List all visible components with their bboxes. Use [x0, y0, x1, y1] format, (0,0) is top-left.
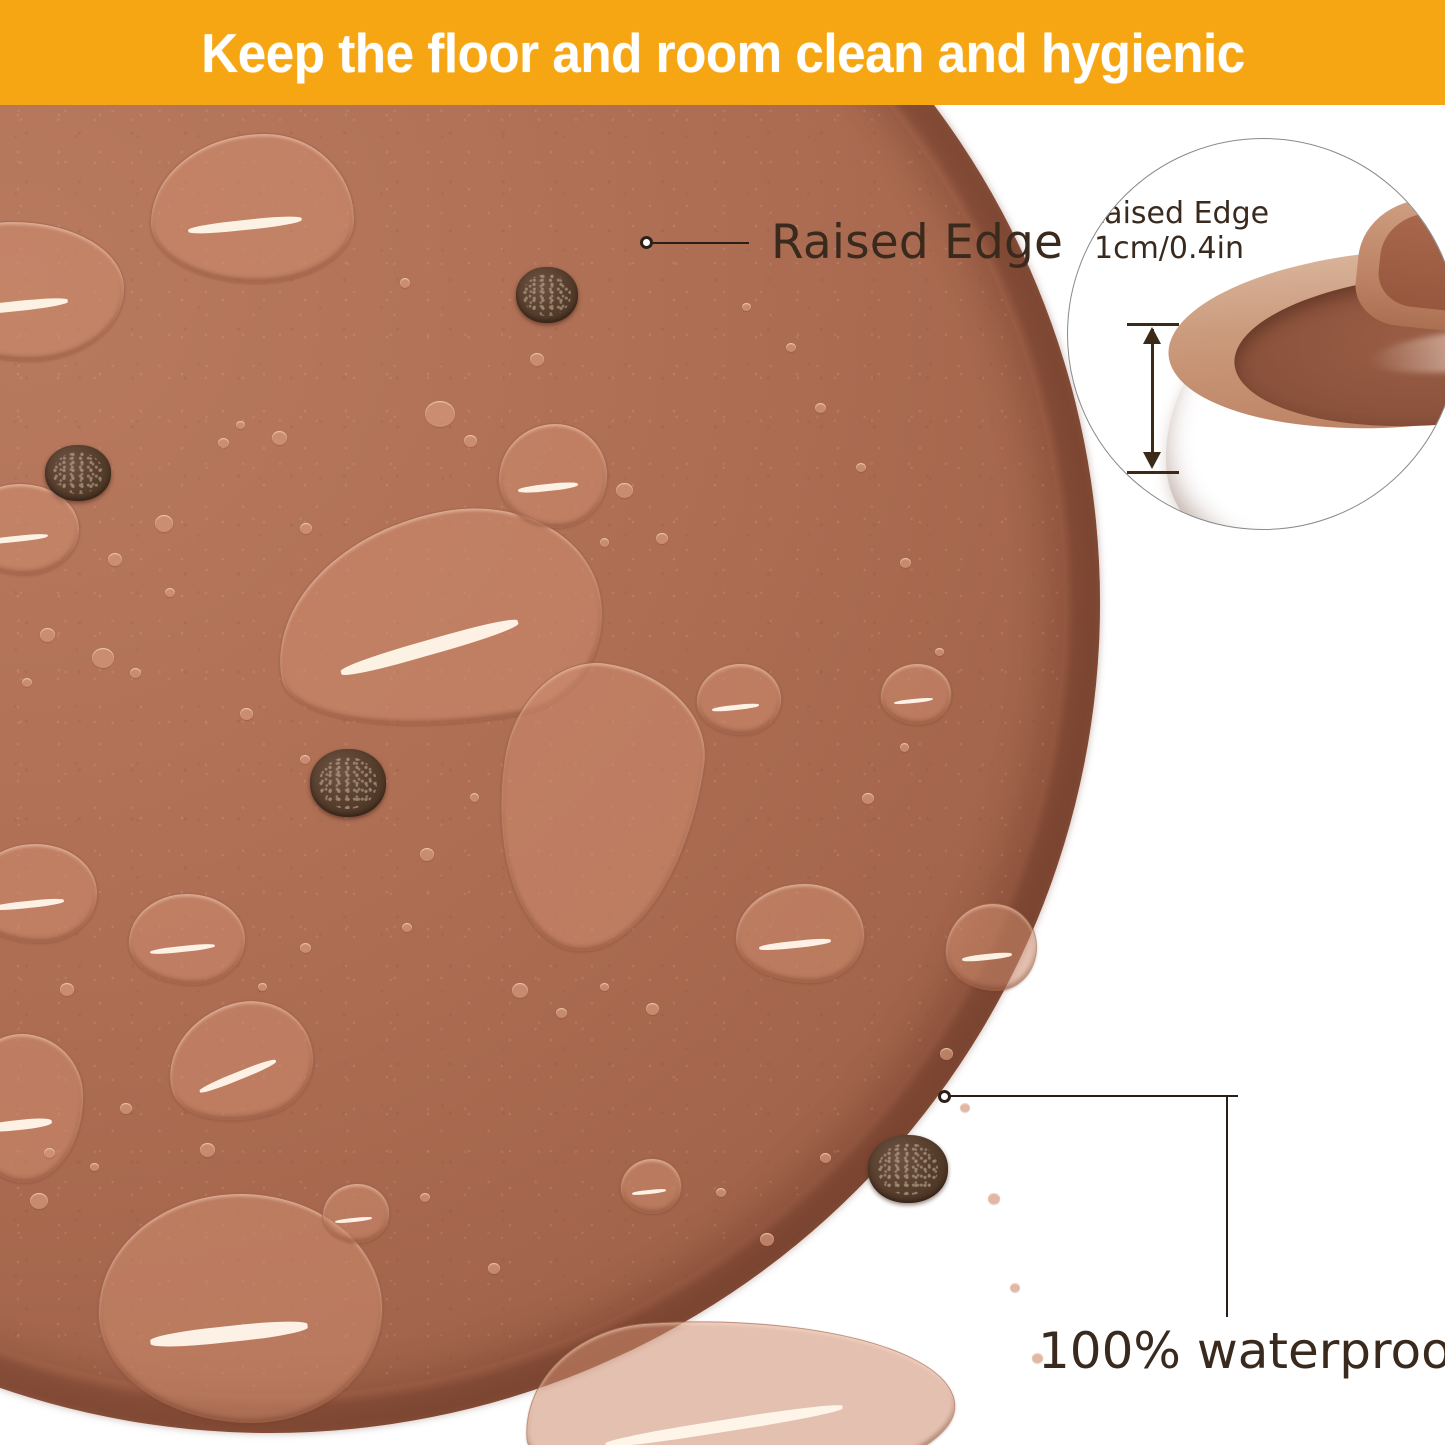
water-droplet — [988, 1193, 1000, 1204]
inset-measurement: 1cm/0.4in — [1084, 232, 1269, 267]
water-droplet — [400, 278, 410, 288]
water-droplet — [300, 523, 312, 534]
leader-line-horizontal — [950, 1095, 1238, 1097]
water-droplet — [240, 708, 253, 720]
water-droplet — [512, 983, 528, 998]
callout-waterproof-label: 100% waterproof — [1038, 1322, 1445, 1380]
water-droplet — [300, 943, 311, 953]
water-droplet — [92, 648, 114, 668]
water-puddle — [945, 903, 1037, 991]
kibble-pellet — [45, 445, 111, 501]
water-droplet — [616, 483, 633, 498]
water-droplet — [940, 1048, 953, 1060]
water-droplet — [470, 793, 479, 802]
water-droplet — [900, 743, 909, 752]
water-droplet — [556, 1008, 567, 1018]
inset-title: Raised Edge — [1084, 196, 1269, 231]
water-droplet — [856, 463, 866, 472]
water-droplet — [30, 1193, 48, 1209]
water-droplet — [236, 421, 245, 429]
inset-detail-circle: Raised Edge 1cm/0.4in — [1067, 138, 1445, 530]
dimension-tick-top — [1127, 323, 1179, 326]
water-droplet — [218, 438, 229, 448]
water-droplet — [656, 533, 668, 544]
water-droplet — [760, 1233, 774, 1246]
inset-detail-text: Raised Edge 1cm/0.4in — [1084, 197, 1269, 267]
water-droplet — [646, 1003, 659, 1015]
headline-banner: Keep the floor and room clean and hygien… — [0, 0, 1445, 105]
water-droplet — [120, 1103, 132, 1114]
water-droplet — [258, 983, 267, 991]
water-droplet — [786, 343, 796, 352]
water-droplet — [960, 1103, 970, 1112]
water-puddle — [696, 663, 782, 735]
water-droplet — [60, 983, 74, 996]
callout-raised-edge: Raised Edge — [640, 215, 1063, 270]
kibble-pellet — [310, 749, 386, 817]
arrow-up-icon — [1143, 327, 1161, 344]
water-droplet — [742, 303, 751, 311]
water-puddle — [620, 1158, 682, 1214]
water-droplet — [300, 755, 310, 764]
water-droplet — [402, 923, 412, 932]
water-droplet — [530, 353, 544, 366]
water-droplet — [420, 1193, 430, 1202]
water-puddle — [322, 1183, 390, 1243]
water-droplet — [464, 435, 477, 447]
kibble-pellet — [868, 1135, 948, 1203]
water-droplet — [935, 648, 944, 656]
water-droplet — [862, 793, 874, 804]
water-droplet — [40, 628, 55, 642]
water-droplet — [272, 431, 287, 445]
water-droplet — [820, 1153, 831, 1163]
water-droplet — [600, 983, 609, 991]
dimension-shaft — [1151, 329, 1154, 465]
product-marketing-image: Keep the floor and room clean and hygien… — [0, 0, 1445, 1445]
water-droplet — [815, 403, 826, 413]
leader-dot-icon — [640, 236, 653, 249]
leader-line-vertical — [1226, 1095, 1228, 1317]
water-droplet — [1010, 1283, 1020, 1292]
water-droplet — [155, 515, 173, 532]
dimension-tick-bottom — [1127, 471, 1179, 474]
water-droplet — [488, 1263, 500, 1274]
water-droplet — [420, 848, 434, 861]
water-droplet — [600, 538, 609, 547]
water-droplet — [90, 1163, 99, 1171]
water-puddle — [128, 893, 246, 985]
arrow-down-icon — [1143, 452, 1161, 469]
water-droplet — [165, 588, 175, 597]
leader-line — [653, 242, 749, 244]
kibble-pellet — [516, 267, 578, 323]
water-droplet — [44, 1148, 55, 1158]
water-droplet — [22, 678, 32, 687]
water-droplet — [130, 668, 141, 678]
water-puddle — [880, 663, 952, 725]
water-droplet — [900, 558, 911, 568]
water-droplet — [425, 401, 455, 427]
water-droplet — [108, 553, 122, 566]
water-puddle — [498, 423, 608, 528]
callout-raised-edge-label: Raised Edge — [771, 215, 1063, 270]
headline-text: Keep the floor and room clean and hygien… — [201, 21, 1244, 85]
water-droplet — [200, 1143, 215, 1157]
water-droplet — [716, 1188, 726, 1197]
